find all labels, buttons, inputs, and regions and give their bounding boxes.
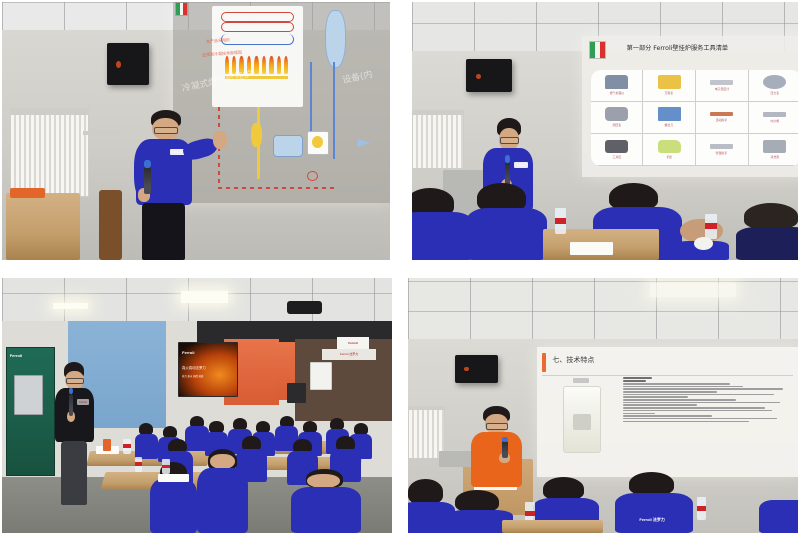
tool-cell: 螺丝刀 — [643, 102, 696, 134]
tool-cell: 万用表 — [643, 70, 696, 102]
feature-bullet-list — [623, 377, 785, 422]
presenter — [470, 406, 525, 488]
poster-subline: 热力 热水 热情 热爱 — [182, 374, 203, 378]
handout-paper — [158, 474, 189, 482]
shelf-sign: Ferroli — [337, 337, 368, 350]
bullet-line — [623, 421, 749, 423]
title-accent-bar — [542, 353, 546, 371]
italian-flag-icon — [175, 2, 188, 16]
bullet-line — [623, 386, 743, 388]
uniform-back-logo: Ferroli 法罗力 — [626, 516, 679, 523]
cabinet-logo: Ferroli — [10, 353, 22, 358]
bullet-line — [623, 380, 646, 382]
projected-slide-technical-features: 七、技术特点 — [537, 347, 798, 477]
ceiling-speaker — [455, 355, 498, 383]
audience-member-foreground — [197, 449, 248, 533]
water-bottle — [162, 459, 170, 474]
orange-item — [103, 439, 111, 452]
bullet-line — [623, 383, 730, 385]
boiler-unit-display — [14, 375, 43, 415]
bullet-line — [623, 388, 783, 390]
ceiling-light — [53, 303, 88, 309]
photo-top-left[interactable]: 冷凝式燃气壁挂炉 设备(内 本产品采用的 全预混冷凝技术原理图 — [2, 2, 390, 260]
audience-member-foreground — [150, 462, 197, 533]
return-pipe-horizontal — [218, 187, 335, 189]
audience-member — [135, 423, 158, 459]
water-bottle — [705, 214, 717, 240]
tool-cell: 压力表 — [749, 70, 798, 102]
audience-member-foreground — [291, 469, 361, 533]
bullet-line — [623, 404, 698, 406]
bullet-line — [623, 399, 736, 401]
valve-indicator — [312, 136, 323, 148]
audience-member — [736, 203, 798, 260]
tool-cell: 内六角 — [749, 102, 798, 134]
oven-display — [287, 383, 307, 403]
supply-pipe-2 — [333, 62, 335, 159]
tool-list-table: 燃气检漏仪 万用表 电子温度计 压力表 — [591, 70, 798, 166]
tool-cell: 手套 — [643, 134, 696, 166]
glasses-icon — [154, 127, 178, 134]
microphone — [144, 167, 150, 194]
wall-mounted-boiler — [310, 362, 332, 390]
water-bottle — [555, 208, 567, 234]
bullet-line — [623, 402, 780, 404]
ceiling-light — [650, 283, 736, 297]
water-bottle — [135, 457, 143, 472]
audience-member: Ferroli 法罗力 — [615, 472, 693, 533]
ceiling-projector — [287, 301, 322, 314]
tool-cell: 清洗泵 — [749, 134, 798, 166]
slide-ghost-text-right: 设备(内 — [341, 67, 374, 86]
expansion-vessel — [273, 135, 303, 157]
glasses-icon — [486, 423, 508, 429]
water-tank — [325, 10, 347, 68]
tool-cell: 测压表 — [591, 102, 644, 134]
bullet-line — [623, 413, 655, 415]
shelf-sign-cn: Ferroli 法罗力 — [322, 349, 377, 359]
bullet-line — [623, 396, 688, 398]
presenter: Ferroli — [122, 110, 223, 260]
bullet-line — [623, 377, 652, 379]
tool-cell: 管钳扳手 — [696, 134, 749, 166]
ferroli-poster: Ferroli 真火真动法罗力 热力 热水 热情 热爱 — [178, 342, 239, 398]
ceiling-speaker — [107, 43, 150, 84]
flow-arrow-icon — [357, 139, 370, 147]
tool-cell: 工具包 — [591, 134, 644, 166]
microphone — [69, 394, 73, 417]
side-table — [6, 193, 80, 260]
projected-slide-tool-list: 第一部分 Ferroli壁挂炉服务工具清单 燃气检漏仪 万用表 电子温度计 — [582, 36, 798, 178]
microphone — [502, 441, 507, 457]
photo-bottom-right[interactable]: 七、技术特点 — [408, 278, 798, 533]
slide-title: 第一部分 Ferroli壁挂炉服务工具清单 — [627, 43, 729, 52]
boiler-product-image — [563, 386, 602, 453]
tool-cell: 电子温度计 — [696, 70, 749, 102]
water-bottle — [697, 497, 707, 520]
photo-top-right[interactable]: 第一部分 Ferroli壁挂炉服务工具清单 燃气检漏仪 万用表 电子温度计 — [412, 2, 798, 260]
water-bottle — [123, 439, 131, 454]
pressure-gauge-icon — [307, 171, 318, 181]
product-caption — [573, 378, 589, 383]
bullet-line — [623, 407, 766, 409]
bullet-line — [623, 418, 777, 420]
italian-flag-icon — [589, 41, 607, 59]
pointing-hand — [213, 131, 227, 149]
bullet-line — [623, 391, 717, 393]
bullet-line — [623, 415, 712, 417]
bullet-line — [623, 410, 772, 412]
audience-member — [412, 188, 474, 260]
handout-paper — [570, 242, 612, 255]
audience-member — [759, 492, 798, 533]
wall-radiator — [10, 108, 90, 198]
poster-logo: Ferroli — [182, 350, 194, 355]
presenter: Ferroli — [53, 362, 100, 505]
photo-collage: 冷凝式燃气壁挂炉 设备(内 本产品采用的 全预混冷凝技术原理图 — [0, 0, 800, 545]
glasses-icon — [500, 137, 519, 144]
slide-title: 七、技术特点 — [552, 355, 594, 365]
tool-cell: 活动扳手 — [696, 102, 749, 134]
poster-headline: 真火真动法罗力 — [182, 365, 206, 370]
paper-cup — [694, 237, 713, 250]
audience-member — [466, 183, 547, 260]
tool-on-table — [10, 188, 45, 198]
ceiling-speaker — [466, 59, 512, 93]
bullet-line — [623, 394, 774, 396]
uniform-chest-logo: Ferroli — [514, 162, 528, 168]
glasses-icon — [66, 378, 84, 384]
ceiling-grid — [408, 278, 798, 342]
radiator-pipe — [83, 131, 122, 135]
wooden-chair — [99, 190, 122, 260]
uniform-chest-logo: Ferroli — [77, 399, 89, 405]
tool-cell: 燃气检漏仪 — [591, 70, 644, 102]
photo-bottom-left[interactable]: Ferroli 真火真动法罗力 热力 热水 热情 热爱 Ferroli Ferr… — [2, 278, 392, 533]
ceiling-light — [181, 291, 228, 303]
audience-table — [502, 520, 603, 533]
circulation-pump — [251, 123, 262, 147]
wall-radiator — [412, 110, 464, 169]
